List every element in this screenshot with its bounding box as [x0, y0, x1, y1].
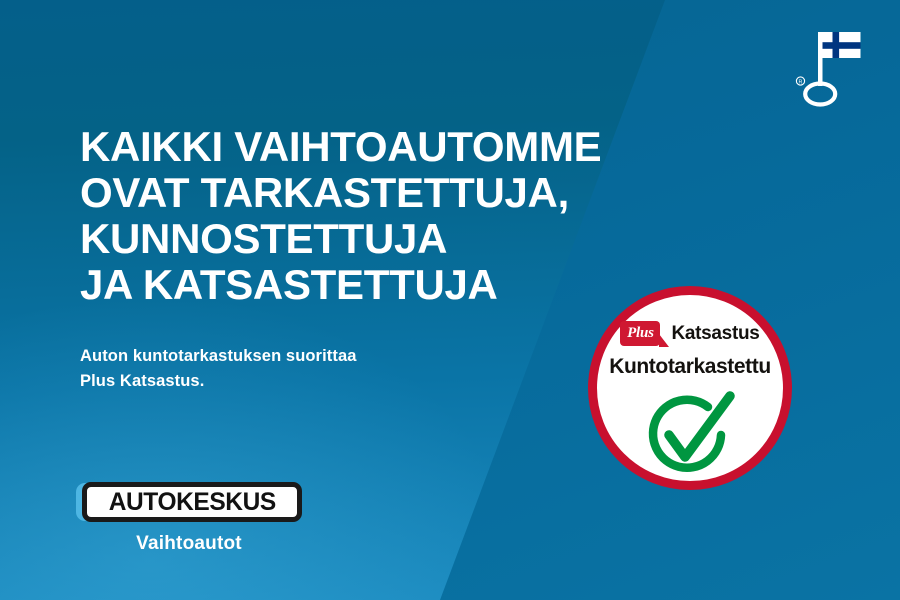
seal-brand-name: Katsastus	[671, 323, 759, 345]
autokeskus-plate: AUTOKESKUS	[76, 482, 302, 522]
plate-label: AUTOKESKUS	[108, 490, 275, 515]
subtitle-line-2: Plus Katsastus.	[80, 369, 500, 394]
plus-logo-tail-icon	[659, 334, 669, 347]
logo-subtitle: Vaihtoautot	[76, 533, 302, 555]
kuntotarkastettu-seal: Plus Katsastus Kuntotarkastettu	[588, 286, 792, 490]
headline-line-3: KUNNOSTETTUJA	[80, 216, 680, 262]
avainlippu-key-flag-icon: R	[786, 24, 862, 108]
promo-banner: R KAIKKI VAIHTOAUTOMME OVAT TARKASTETTUJ…	[0, 0, 900, 600]
headline-line-1: KAIKKI VAIHTOAUTOMME	[80, 124, 680, 170]
plate-body: AUTOKESKUS	[82, 482, 302, 522]
svg-text:R: R	[799, 80, 803, 86]
autokeskus-logo[interactable]: AUTOKESKUS Vaihtoautot	[76, 482, 316, 555]
seal-brand-row: Plus Katsastus	[597, 321, 783, 346]
plus-logo-icon: Plus	[620, 321, 660, 346]
headline-line-2: OVAT TARKASTETTUJA,	[80, 170, 680, 216]
headline-line-4: JA KATSASTETTUJA	[80, 262, 680, 308]
plus-logo-label: Plus	[627, 326, 654, 341]
seal-title: Kuntotarkastettu	[597, 355, 783, 379]
headline: KAIKKI VAIHTOAUTOMME OVAT TARKASTETTUJA,…	[80, 124, 680, 308]
green-check-icon	[642, 391, 738, 479]
subtitle-line-1: Auton kuntotarkastuksen suorittaa	[80, 344, 500, 369]
subtitle: Auton kuntotarkastuksen suorittaa Plus K…	[80, 344, 500, 394]
